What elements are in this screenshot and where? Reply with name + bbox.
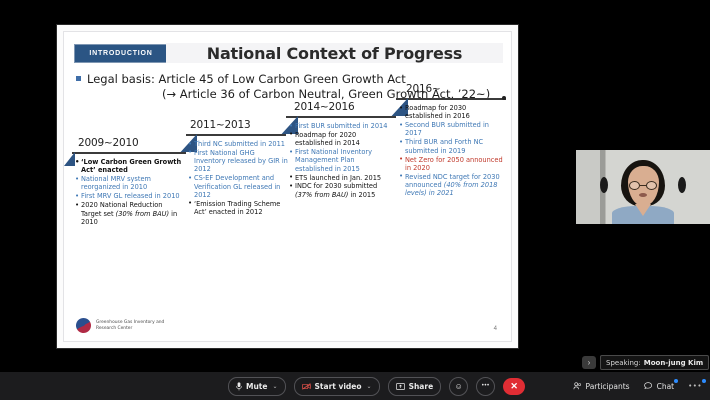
mute-button-label: Mute	[246, 382, 267, 391]
list-item: First National Inventory Management Plan…	[289, 148, 393, 173]
list-item: Net Zero for 2050 announced in 2020	[399, 156, 505, 173]
organization-name: Greenhouse Gas Inventory and Research Ce…	[96, 320, 164, 332]
mute-button[interactable]: Mute ⌄	[228, 377, 286, 396]
toolbar-center-controls: Mute ⌄ Start video ⌄ Share ☺ •••	[228, 372, 525, 400]
zoom-meeting-window: INTRODUCTION National Context of Progres…	[0, 0, 710, 400]
timeline-rail-1	[72, 152, 186, 154]
timeline-end-dot	[502, 96, 506, 100]
legal-basis-line-1: Legal basis: Article 45 of Low Carbon Gr…	[87, 72, 406, 86]
timeline-column-4: Roadmap for 2030 established in 2016 Sec…	[399, 104, 505, 198]
list-item: ‘Emission Trading Scheme Act’ enacted in…	[188, 200, 288, 217]
start-video-button-label: Start video	[315, 382, 362, 391]
reactions-button[interactable]: ☺	[449, 377, 468, 396]
leave-meeting-button[interactable]: ✕	[503, 378, 525, 395]
start-video-button[interactable]: Start video ⌄	[294, 377, 380, 396]
microphone-icon	[236, 382, 242, 391]
chevron-down-icon[interactable]: ⌄	[367, 383, 372, 390]
lens-left	[629, 181, 640, 190]
eyeglasses-icon	[629, 181, 657, 190]
list-item: Revised NDC target for 2030 announced (4…	[399, 173, 505, 198]
share-button[interactable]: Share	[388, 377, 442, 396]
timeline-rail-4	[396, 98, 506, 100]
organization-name-line-2: Research Center	[96, 326, 164, 332]
timeline-column-2: Third NC submitted in 2011 First Nationa…	[188, 140, 288, 217]
list-item: INDC for 2030 submitted (37% from BAU) i…	[289, 182, 393, 199]
active-speaker-label: Speaking: Moon-jung Kim	[600, 355, 709, 370]
list-item: ETS launched in Jan. 2015	[289, 174, 393, 182]
timeline-column-1: ‘Low Carbon Green Growth Act’ enacted Na…	[75, 158, 183, 227]
video-sidebar	[576, 0, 710, 372]
participants-button[interactable]: Participants	[573, 382, 630, 391]
shared-slide-frame: INTRODUCTION National Context of Progres…	[57, 25, 518, 348]
timeline-staircase: 2009~2010 2011~2013 2014~2016 2016~	[72, 104, 505, 289]
active-speaker-bar: › Speaking: Moon-jung Kim	[582, 355, 709, 370]
chat-unread-badge	[674, 379, 678, 383]
list-item: Roadmap for 2030 established in 2016	[399, 104, 505, 121]
chat-label: Chat	[657, 382, 675, 391]
page-title: National Context of Progress	[166, 43, 503, 63]
share-button-label: Share	[409, 382, 434, 391]
camera-off-icon	[302, 383, 311, 390]
timeline-rail-2	[186, 134, 286, 136]
participant-mouth	[639, 193, 647, 197]
ellipsis-icon: •••	[482, 383, 490, 389]
list-item: CS-EF Development and Verification GL re…	[188, 174, 288, 199]
chat-bubble-icon	[644, 382, 653, 390]
speaking-name: Moon-jung Kim	[644, 359, 703, 367]
chevron-down-icon[interactable]: ⌄	[272, 383, 277, 390]
share-screen-icon	[396, 383, 405, 390]
slide-page-number: 4	[494, 326, 497, 332]
list-item: 2020 National Reduction Target set (30% …	[75, 201, 183, 226]
list-item: First MRV GL released in 2010	[75, 192, 183, 200]
timeline-step-label-1: 2009~2010	[78, 137, 138, 149]
speaking-prefix: Speaking:	[606, 359, 641, 367]
timeline-rail-3	[286, 116, 396, 118]
list-item: ‘Low Carbon Green Growth Act’ enacted	[75, 158, 183, 175]
list-item: National MRV system reorganized in 2010	[75, 175, 183, 192]
expand-panel-chevron-icon[interactable]: ›	[582, 356, 596, 369]
section-badge: INTRODUCTION	[74, 44, 168, 63]
participants-icon	[573, 382, 582, 390]
screen-share-stage: INTRODUCTION National Context of Progres…	[0, 0, 576, 372]
bullet-square-icon	[76, 76, 81, 81]
headset-earcup-right-icon	[678, 177, 686, 193]
close-icon: ✕	[510, 381, 518, 392]
timeline-riser-0	[64, 152, 75, 166]
more-right-button[interactable]: •••	[688, 382, 702, 390]
ellipsis-icon: •••	[688, 382, 702, 390]
chat-button[interactable]: Chat	[644, 382, 675, 391]
slide-header: INTRODUCTION National Context of Progres…	[74, 44, 503, 64]
list-item: Third BUR and Forth NC submitted in 2019	[399, 138, 505, 155]
timeline-step-label-3: 2014~2016	[294, 101, 354, 113]
list-item: First BUR submitted in 2014	[289, 122, 393, 130]
organization-name-line-1: Greenhouse Gas Inventory and	[96, 320, 164, 326]
timeline-step-label-2: 2011~2013	[190, 119, 250, 131]
meeting-toolbar: Mute ⌄ Start video ⌄ Share ☺ •••	[0, 372, 710, 400]
toolbar-right-controls: Participants Chat •••	[573, 372, 702, 400]
participants-label: Participants	[586, 382, 630, 391]
more-options-button[interactable]: •••	[476, 377, 495, 396]
presentation-slide: INTRODUCTION National Context of Progres…	[63, 31, 512, 342]
timeline-column-3: First BUR submitted in 2014 Roadmap for …	[289, 122, 393, 200]
list-item: Roadmap for 2020 established in 2014	[289, 131, 393, 148]
timeline-step-label-4: 2016~	[406, 83, 441, 95]
organization-logo: Greenhouse Gas Inventory and Research Ce…	[76, 318, 164, 333]
list-item: Third NC submitted in 2011	[188, 140, 288, 148]
list-item: Second BUR submitted in 2017	[399, 121, 505, 138]
participant-video-tile[interactable]	[576, 150, 710, 224]
legal-basis-line-2: (→ Article 36 of Carbon Neutral, Green G…	[162, 87, 506, 102]
taeguk-logo-icon	[73, 315, 93, 335]
list-item: First National GHG Inventory released by…	[188, 149, 288, 174]
more-badge	[702, 379, 706, 383]
headset-earcup-left-icon	[600, 177, 608, 193]
lens-right	[646, 181, 657, 190]
